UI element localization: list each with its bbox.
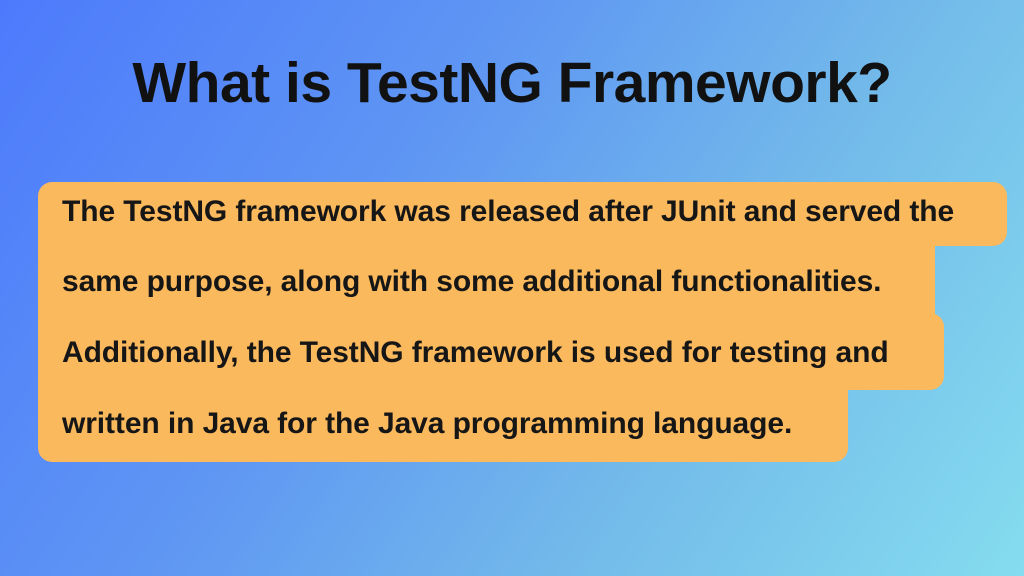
body-line-text: The TestNG framework was released after …	[62, 180, 954, 244]
page-title: What is TestNG Framework?	[0, 50, 1024, 116]
slide-canvas: What is TestNG Framework? The TestNG fra…	[0, 0, 1024, 576]
highlighted-paragraph: The TestNG framework was released after …	[38, 182, 1024, 462]
highlight-line: written in Java for the Java programming…	[38, 385, 848, 462]
highlight-line: same purpose, along with some additional…	[38, 241, 935, 319]
body-line-text: Additionally, the TestNG framework is us…	[62, 314, 889, 391]
highlight-line: The TestNG framework was released after …	[38, 182, 1007, 246]
highlight-line: Additionally, the TestNG framework is us…	[38, 313, 944, 390]
body-line-text: written in Java for the Java programming…	[62, 385, 792, 462]
body-line-text: same purpose, along with some additional…	[62, 243, 881, 321]
